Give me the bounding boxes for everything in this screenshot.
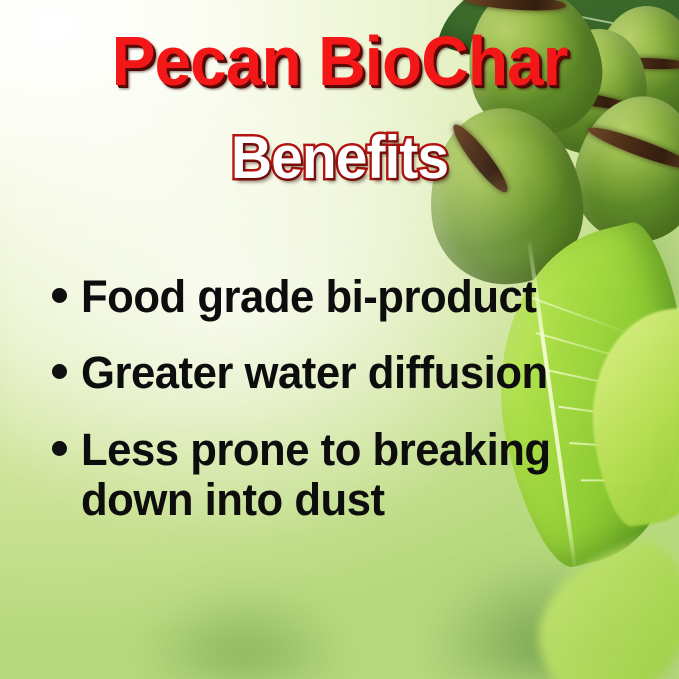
bullet-dot-icon (52, 441, 67, 456)
poster-subtitle: Benefits (17, 128, 662, 188)
benefits-list: Food grade bi-product Greater water diff… (44, 272, 639, 552)
list-item: Less prone to breaking down into dust (44, 425, 639, 526)
list-item-label: Food grade bi-product (81, 272, 536, 322)
poster-title: Pecan BioChar (20, 26, 658, 96)
list-item-label: Less prone to breaking down into dust (81, 425, 622, 526)
bullet-dot-icon (52, 288, 67, 303)
list-item: Food grade bi-product (44, 272, 639, 322)
list-item-label: Greater water diffusion (81, 348, 548, 398)
list-item: Greater water diffusion (44, 348, 639, 398)
bullet-dot-icon (52, 364, 67, 379)
product-benefits-poster: Pecan BioChar Benefits Food grade bi-pro… (0, 0, 679, 679)
